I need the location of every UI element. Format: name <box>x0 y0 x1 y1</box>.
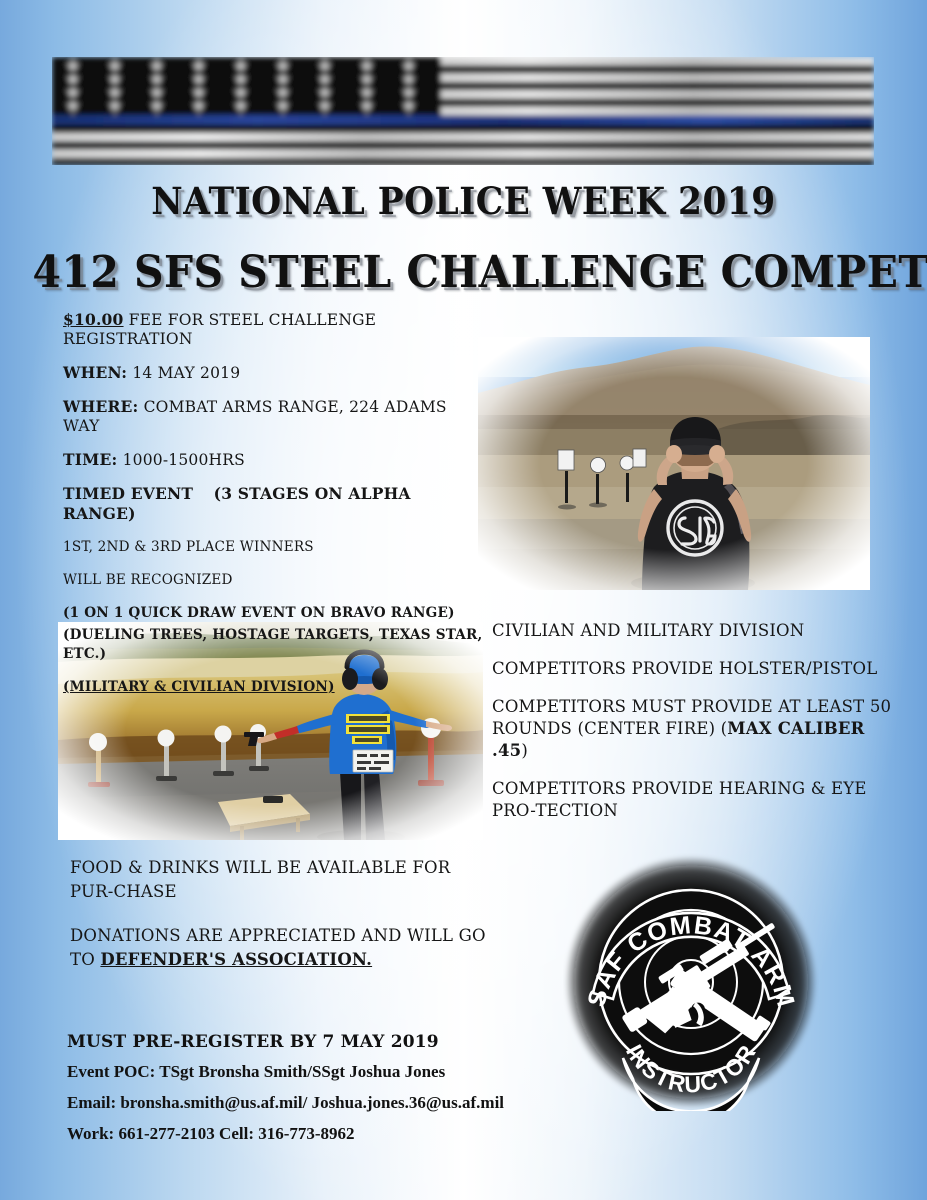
requirement-holster: COMPETITORS PROVIDE HOLSTER/PISTOL <box>492 658 902 680</box>
where-line: WHERE: COMBAT ARMS RANGE, 224 ADAMS WAY <box>63 397 483 436</box>
division-line: (MILITARY & CIVILIAN DIVISION) <box>63 678 483 697</box>
timed-event-line: TIMED EVENT (3 STAGES ON ALPHA RANGE) <box>63 484 483 524</box>
title-block: NATIONAL POLICE WEEK 2019 412 SFS STEEL … <box>0 178 927 300</box>
requirement-division: CIVILIAN AND MILITARY DIVISION <box>492 620 902 642</box>
preregister-header: MUST PRE-REGISTER BY 7 MAY 2019 <box>67 1032 567 1052</box>
fee-line: $10.00 FEE FOR STEEL CHALLENGE REGISTRAT… <box>63 310 483 349</box>
timed-event-label: TIMED EVENT <box>63 484 193 503</box>
recognized-line: WILL BE RECOGNIZED <box>63 571 483 590</box>
when-value: 14 MAY 2019 <box>132 364 240 382</box>
time-line: TIME: 1000-1500HRS <box>63 450 483 470</box>
targets-line: (DUELING TREES, HOSTAGE TARGETS, TEXAS S… <box>63 626 483 664</box>
time-value: 1000-1500HRS <box>123 451 245 469</box>
usaf-combat-arms-instructor-badge: USAF COMBAT ARMS INSTRUCTOR <box>563 853 819 1111</box>
requirement-rounds: COMPETITORS MUST PROVIDE AT LEAST 50 ROU… <box>492 696 902 762</box>
defenders-association-emphasis: DEFENDER'S ASSOCIATION. <box>100 950 372 969</box>
when-line: WHEN: 14 MAY 2019 <box>63 363 483 383</box>
event-details-column: $10.00 FEE FOR STEEL CHALLENGE REGISTRAT… <box>63 310 483 711</box>
quick-draw-line: (1 ON 1 QUICK DRAW EVENT ON BRAVO RANGE) <box>63 604 483 623</box>
page-title-primary: NATIONAL POLICE WEEK 2019 <box>32 178 894 224</box>
where-label: WHERE: <box>63 397 138 416</box>
when-label: WHEN: <box>63 363 127 382</box>
contact-email[interactable]: Email: bronsha.smith@us.af.mil/ Joshua.j… <box>67 1092 567 1113</box>
range-photo-top-right <box>478 337 870 590</box>
donation-note: DONATIONS ARE APPRECIATED AND WILL GO TO… <box>70 924 490 972</box>
notes-column: FOOD & DRINKS WILL BE AVAILABLE FOR PUR-… <box>70 856 490 992</box>
flyer-page: NATIONAL POLICE WEEK 2019 412 SFS STEEL … <box>0 0 927 1200</box>
contact-block: MUST PRE-REGISTER BY 7 MAY 2019 Event PO… <box>67 1032 567 1154</box>
thin-blue-line-flag <box>52 57 874 165</box>
food-note: FOOD & DRINKS WILL BE AVAILABLE FOR PUR-… <box>70 856 490 904</box>
page-title-secondary: 412 SFS STEEL CHALLENGE COMPETITION <box>32 246 894 300</box>
winners-line: 1ST, 2ND & 3RD PLACE WINNERS <box>63 538 483 557</box>
requirements-column: CIVILIAN AND MILITARY DIVISION COMPETITO… <box>492 620 902 838</box>
contact-phones: Work: 661-277-2103 Cell: 316-773-8962 <box>67 1123 567 1144</box>
requirement-protection: COMPETITORS PROVIDE HEARING & EYE PRO-TE… <box>492 778 902 822</box>
time-label: TIME: <box>63 450 117 469</box>
event-poc: Event POC: TSgt Bronsha Smith/SSgt Joshu… <box>67 1061 567 1082</box>
fee-amount: $10.00 <box>63 310 124 329</box>
